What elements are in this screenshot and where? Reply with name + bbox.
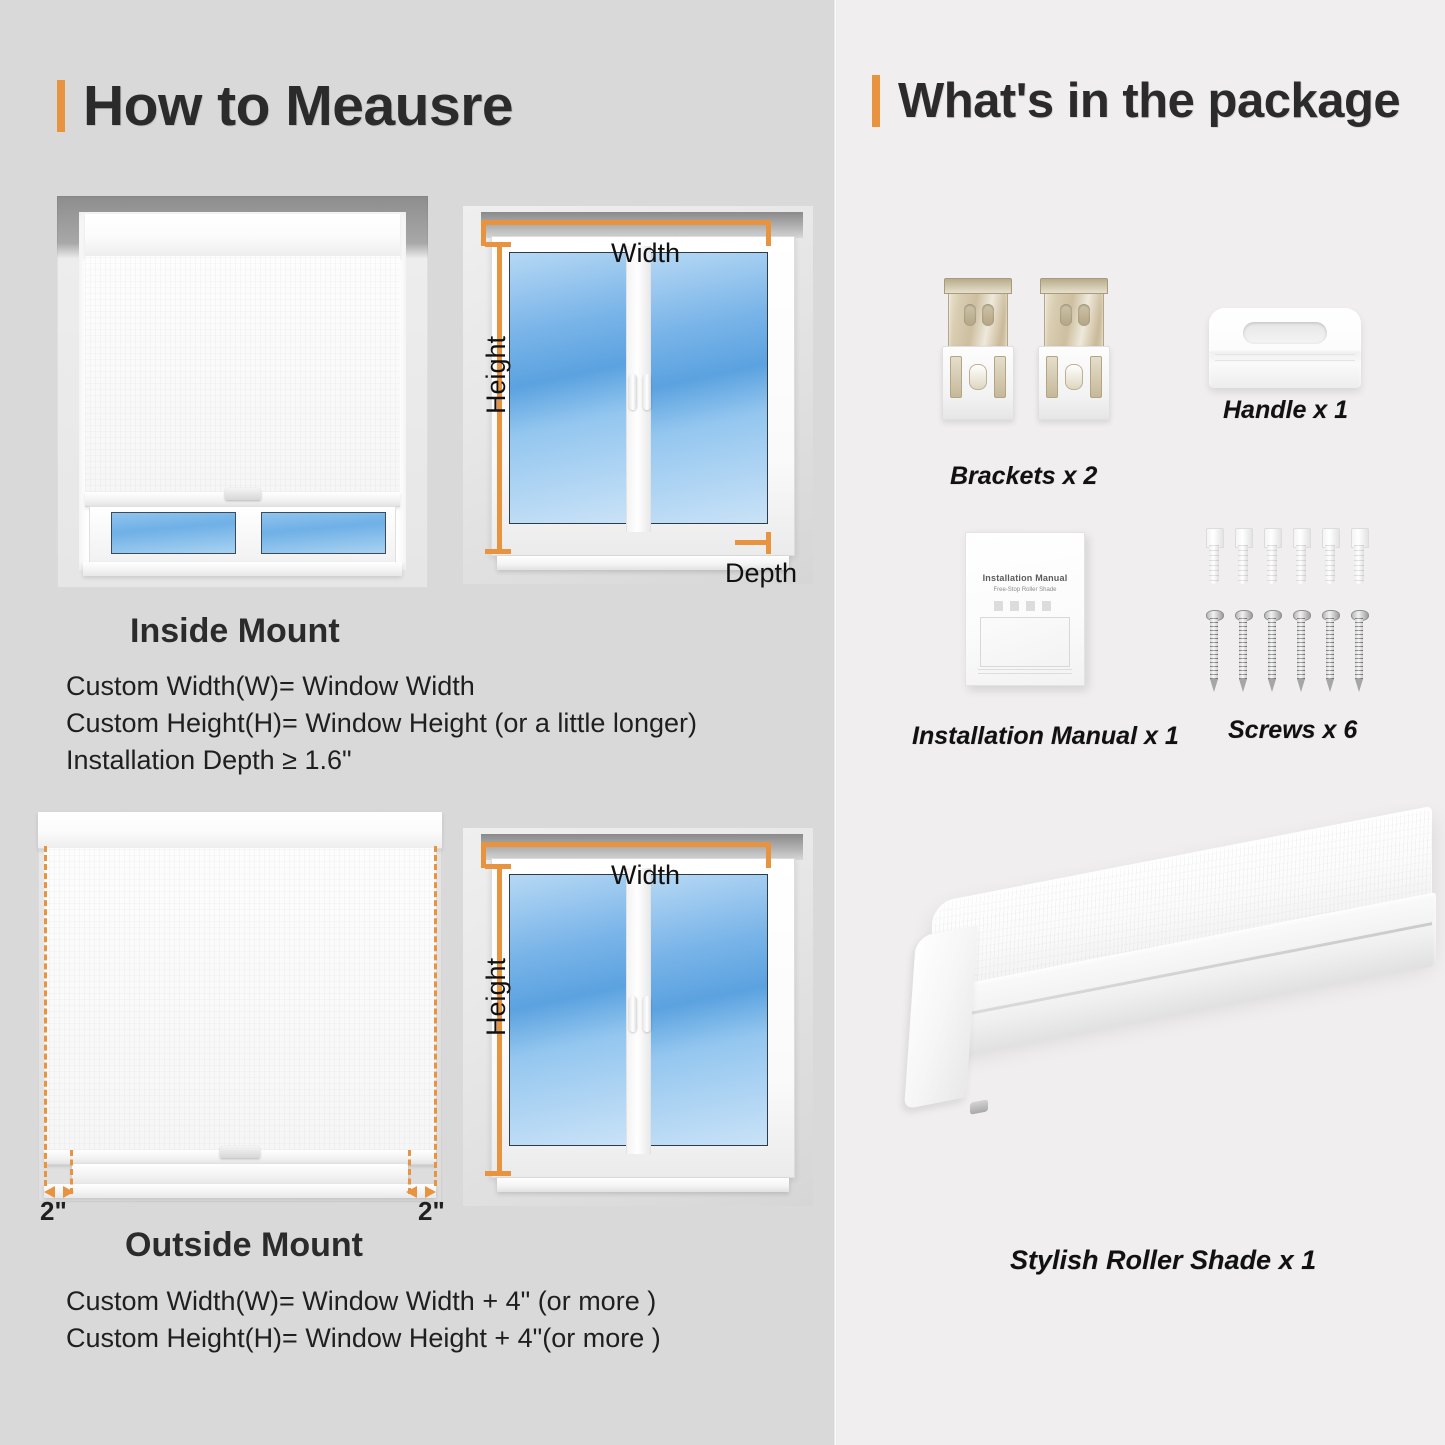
wall-anchor-icon [1322, 528, 1338, 584]
width-guide-cap-right [766, 842, 771, 868]
bracket-top-flange [1040, 278, 1108, 294]
screw-icon [1264, 610, 1280, 692]
shade-pull-handle [225, 488, 261, 500]
overhang-label-right: 2" [418, 1196, 445, 1227]
inside-mount-title: Inside Mount [130, 612, 340, 651]
bracket-1-icon [940, 278, 1014, 436]
inside-mount-specs: Custom Width(W)= Window Width Custom Hei… [66, 668, 697, 779]
window-pane-left [509, 874, 628, 1146]
screw-icon [1322, 610, 1338, 692]
manual-cover-title: Installation Manual [966, 573, 1084, 583]
spec-line: Custom Width(W)= Window Width [66, 668, 697, 705]
infographic-page: How to Meausre What's in the package [0, 0, 1445, 1445]
outside-mount-measure-diagram: Width Height [463, 828, 813, 1206]
window-handle-left-icon [629, 374, 637, 410]
wall-anchor-icon [1264, 528, 1280, 584]
window-handle-right-icon [643, 996, 651, 1032]
inside-mount-shade-illustration [57, 196, 428, 588]
width-label: Width [611, 860, 680, 891]
bracket-tab [1090, 356, 1102, 398]
window-sill [72, 1164, 408, 1184]
shade-end-pin [970, 1099, 988, 1114]
screw-icon [1351, 610, 1367, 692]
wall-anchor-icon [1235, 528, 1251, 584]
shade-fabric [85, 256, 400, 492]
height-guide-cap-top [485, 242, 511, 247]
screw-icon [1293, 610, 1309, 692]
window-lintel [481, 212, 803, 238]
depth-guide-cap [766, 532, 771, 554]
screws-label: Screws x 6 [1228, 716, 1357, 745]
installation-manual-label: Installation Manual x 1 [912, 722, 1179, 751]
bracket-tab [994, 356, 1006, 398]
width-guide-bar [481, 842, 771, 847]
how-to-measure-heading: How to Meausre [57, 73, 513, 139]
handle-grip-slot [1243, 322, 1327, 344]
depth-label: Depth [725, 558, 797, 589]
spec-line: Installation Depth ≥ 1.6" [66, 742, 697, 779]
spec-line: Custom Width(W)= Window Width + 4" (or m… [66, 1283, 661, 1320]
shade-fabric [44, 848, 436, 1150]
screw-icon [1206, 610, 1222, 692]
spec-line: Custom Height(H)= Window Height + 4"(or … [66, 1320, 661, 1357]
height-guide-cap-top [485, 864, 511, 869]
handle-seam [1215, 360, 1355, 361]
screw-icon [1235, 610, 1251, 692]
manual-cover-footer [978, 669, 1072, 677]
bracket-slot [1060, 304, 1072, 326]
window-glass-left [111, 512, 236, 554]
installation-manual-image: Installation Manual Free-Stop Roller Sha… [965, 532, 1085, 686]
handle-label: Handle x 1 [1223, 396, 1348, 425]
roller-shade-image [908, 895, 1428, 1205]
window-handle-left-icon [629, 996, 637, 1032]
shade-pull-handle [220, 1146, 260, 1158]
package-heading: What's in the package [872, 73, 1400, 129]
width-label: Width [611, 238, 680, 269]
wall-anchor-icon [1351, 528, 1367, 584]
manual-cover-figure [980, 617, 1070, 667]
window-sill [497, 1178, 789, 1192]
accent-bar-icon [872, 75, 880, 127]
bracket-screw-hole [1065, 364, 1083, 390]
window-pane-right [649, 874, 768, 1146]
overhang-guide-right [434, 846, 437, 1186]
spec-line: Custom Height(H)= Window Height (or a li… [66, 705, 697, 742]
shade-valance [85, 214, 400, 257]
handle-seam [1215, 354, 1355, 355]
manual-cover-subtitle: Free-Stop Roller Shade [966, 587, 1084, 593]
shade-end-cap [904, 925, 978, 1109]
bracket-slot [964, 304, 976, 326]
height-label: Height [481, 336, 512, 414]
height-label: Height [481, 958, 512, 1036]
window-pane-right [649, 252, 768, 524]
bracket-top-flange [944, 278, 1012, 294]
bracket-screw-hole [969, 364, 987, 390]
bracket-slot [982, 304, 994, 326]
height-guide-cap-bottom [485, 1171, 511, 1176]
brackets-label: Brackets x 2 [950, 462, 1097, 491]
window-pane-left [509, 252, 628, 524]
window-glass-right [261, 512, 386, 554]
outside-mount-title: Outside Mount [125, 1226, 363, 1265]
accent-bar-icon [57, 80, 65, 132]
bracket-tab [950, 356, 962, 398]
window-handle-right-icon [643, 374, 651, 410]
shade-valance [38, 812, 442, 849]
bracket-slot [1078, 304, 1090, 326]
width-guide-cap-right [766, 220, 771, 246]
window-sill-apron [44, 1184, 436, 1198]
window-sill [83, 562, 402, 576]
outside-mount-specs: Custom Width(W)= Window Width + 4" (or m… [66, 1283, 661, 1357]
overhang-guide-left [44, 846, 47, 1186]
width-guide-bar [481, 220, 771, 225]
package-title: What's in the package [898, 73, 1400, 129]
manual-cover-line [994, 601, 1056, 611]
inside-mount-measure-diagram: Width Height Depth [463, 206, 813, 584]
bracket-tab [1046, 356, 1058, 398]
wall-anchor-icon [1293, 528, 1309, 584]
overhang-label-left: 2" [40, 1196, 67, 1227]
window-lintel [481, 834, 803, 860]
how-to-measure-title: How to Meausre [83, 73, 513, 139]
handle-image [1209, 308, 1361, 388]
height-guide-cap-bottom [485, 549, 511, 554]
bracket-2-icon [1036, 278, 1110, 436]
brackets-image [940, 278, 1130, 448]
roller-shade-label: Stylish Roller Shade x 1 [1010, 1245, 1316, 1276]
wall-anchor-icon [1206, 528, 1222, 584]
screws-image [1206, 528, 1378, 698]
outside-mount-shade-illustration [38, 812, 442, 1202]
